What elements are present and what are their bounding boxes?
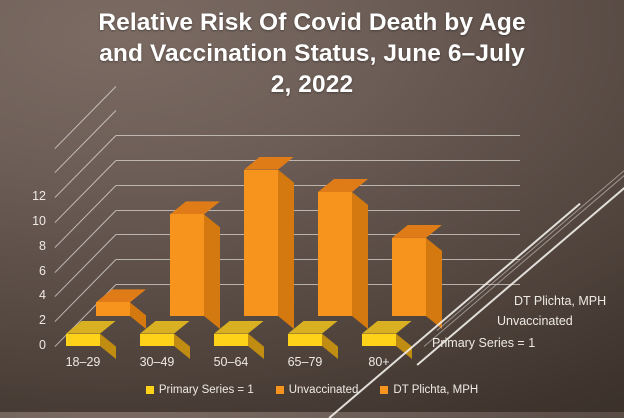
- bar-side-face: [426, 238, 442, 329]
- bar-front-face: [362, 334, 396, 346]
- bar-primary-series-80+: [362, 334, 396, 346]
- y-axis-tick-label: 6: [18, 264, 46, 278]
- depth-axis-label: Primary Series = 1: [432, 336, 535, 350]
- bar-front-face: [392, 238, 426, 316]
- bar-top-face: [288, 321, 338, 334]
- x-axis-tick-label: 50–64: [202, 355, 260, 369]
- bar-front-face: [318, 192, 352, 316]
- chart-title: Relative Risk Of Covid Death by Age and …: [50, 8, 574, 101]
- bar-top-face: [392, 225, 442, 238]
- legend-swatch: [146, 386, 154, 394]
- bar-top-face: [214, 321, 264, 334]
- bar-front-face: [288, 334, 322, 346]
- gridline: [116, 185, 520, 186]
- bar-front-face: [214, 334, 248, 346]
- bar-primary-series-18–29: [66, 334, 100, 346]
- bar-front-face: [96, 302, 130, 316]
- depth-axis-label: Unvaccinated: [497, 314, 573, 328]
- x-axis-tick-label: 80+: [350, 355, 408, 369]
- bar-front-face: [244, 170, 278, 316]
- bar-front-face: [170, 214, 204, 316]
- chart-title-line-1: Relative Risk Of Covid Death by Age: [50, 8, 574, 39]
- bar-top-face: [140, 321, 190, 334]
- depth-axis-line: [55, 160, 117, 223]
- y-axis-tick-label: 2: [18, 313, 46, 327]
- bar-side-face: [130, 302, 146, 329]
- legend-label: Primary Series = 1: [159, 384, 254, 396]
- bar-side-face: [352, 192, 368, 329]
- y-axis-tick-label: 12: [18, 189, 46, 203]
- bar-unvaccinated-18–29: [96, 302, 130, 316]
- y-axis-tick-label: 4: [18, 288, 46, 302]
- y-axis-tick-label: 0: [18, 338, 46, 352]
- y-axis-tick-label: 8: [18, 239, 46, 253]
- bar-primary-series-30–49: [140, 334, 174, 346]
- chart-legend: Primary Series = 1UnvaccinatedDT Plichta…: [0, 384, 624, 396]
- legend-item[interactable]: DT Plichta, MPH: [380, 384, 478, 396]
- legend-item[interactable]: Unvaccinated: [276, 384, 359, 396]
- plot-area: 024681012 18–2930–4950–6465–7980+ DT Pli…: [0, 118, 624, 368]
- legend-swatch: [276, 386, 284, 394]
- x-axis-tick-label: 18–29: [54, 355, 112, 369]
- bar-unvaccinated-80+: [392, 238, 426, 316]
- legend-item[interactable]: Primary Series = 1: [146, 384, 254, 396]
- legend-swatch: [380, 386, 388, 394]
- bar-top-face: [244, 157, 294, 170]
- bar-side-face: [278, 170, 294, 329]
- bar-unvaccinated-30–49: [170, 214, 204, 316]
- bar-unvaccinated-50–64: [244, 170, 278, 316]
- bar-primary-series-50–64: [214, 334, 248, 346]
- legend-label: DT Plichta, MPH: [393, 384, 478, 396]
- bar-front-face: [66, 334, 100, 346]
- bar-top-face: [362, 321, 412, 334]
- y-axis-tick-label: 10: [18, 214, 46, 228]
- bar-front-face: [140, 334, 174, 346]
- chart-root: Relative Risk Of Covid Death by Age and …: [0, 0, 624, 412]
- bar-top-face: [170, 201, 220, 214]
- chart-title-line-3: 2, 2022: [50, 70, 574, 101]
- x-axis-tick-label: 65–79: [276, 355, 334, 369]
- bar-primary-series-65–79: [288, 334, 322, 346]
- depth-axis-line: [55, 185, 117, 248]
- bar-unvaccinated-65–79: [318, 192, 352, 316]
- x-axis-tick-label: 30–49: [128, 355, 186, 369]
- legend-label: Unvaccinated: [289, 384, 359, 396]
- bar-side-face: [204, 214, 220, 329]
- gridline: [116, 160, 520, 161]
- gridline: [116, 135, 520, 136]
- chart-title-line-2: and Vaccination Status, June 6–July: [50, 39, 574, 70]
- depth-axis-label: DT Plichta, MPH: [514, 294, 606, 308]
